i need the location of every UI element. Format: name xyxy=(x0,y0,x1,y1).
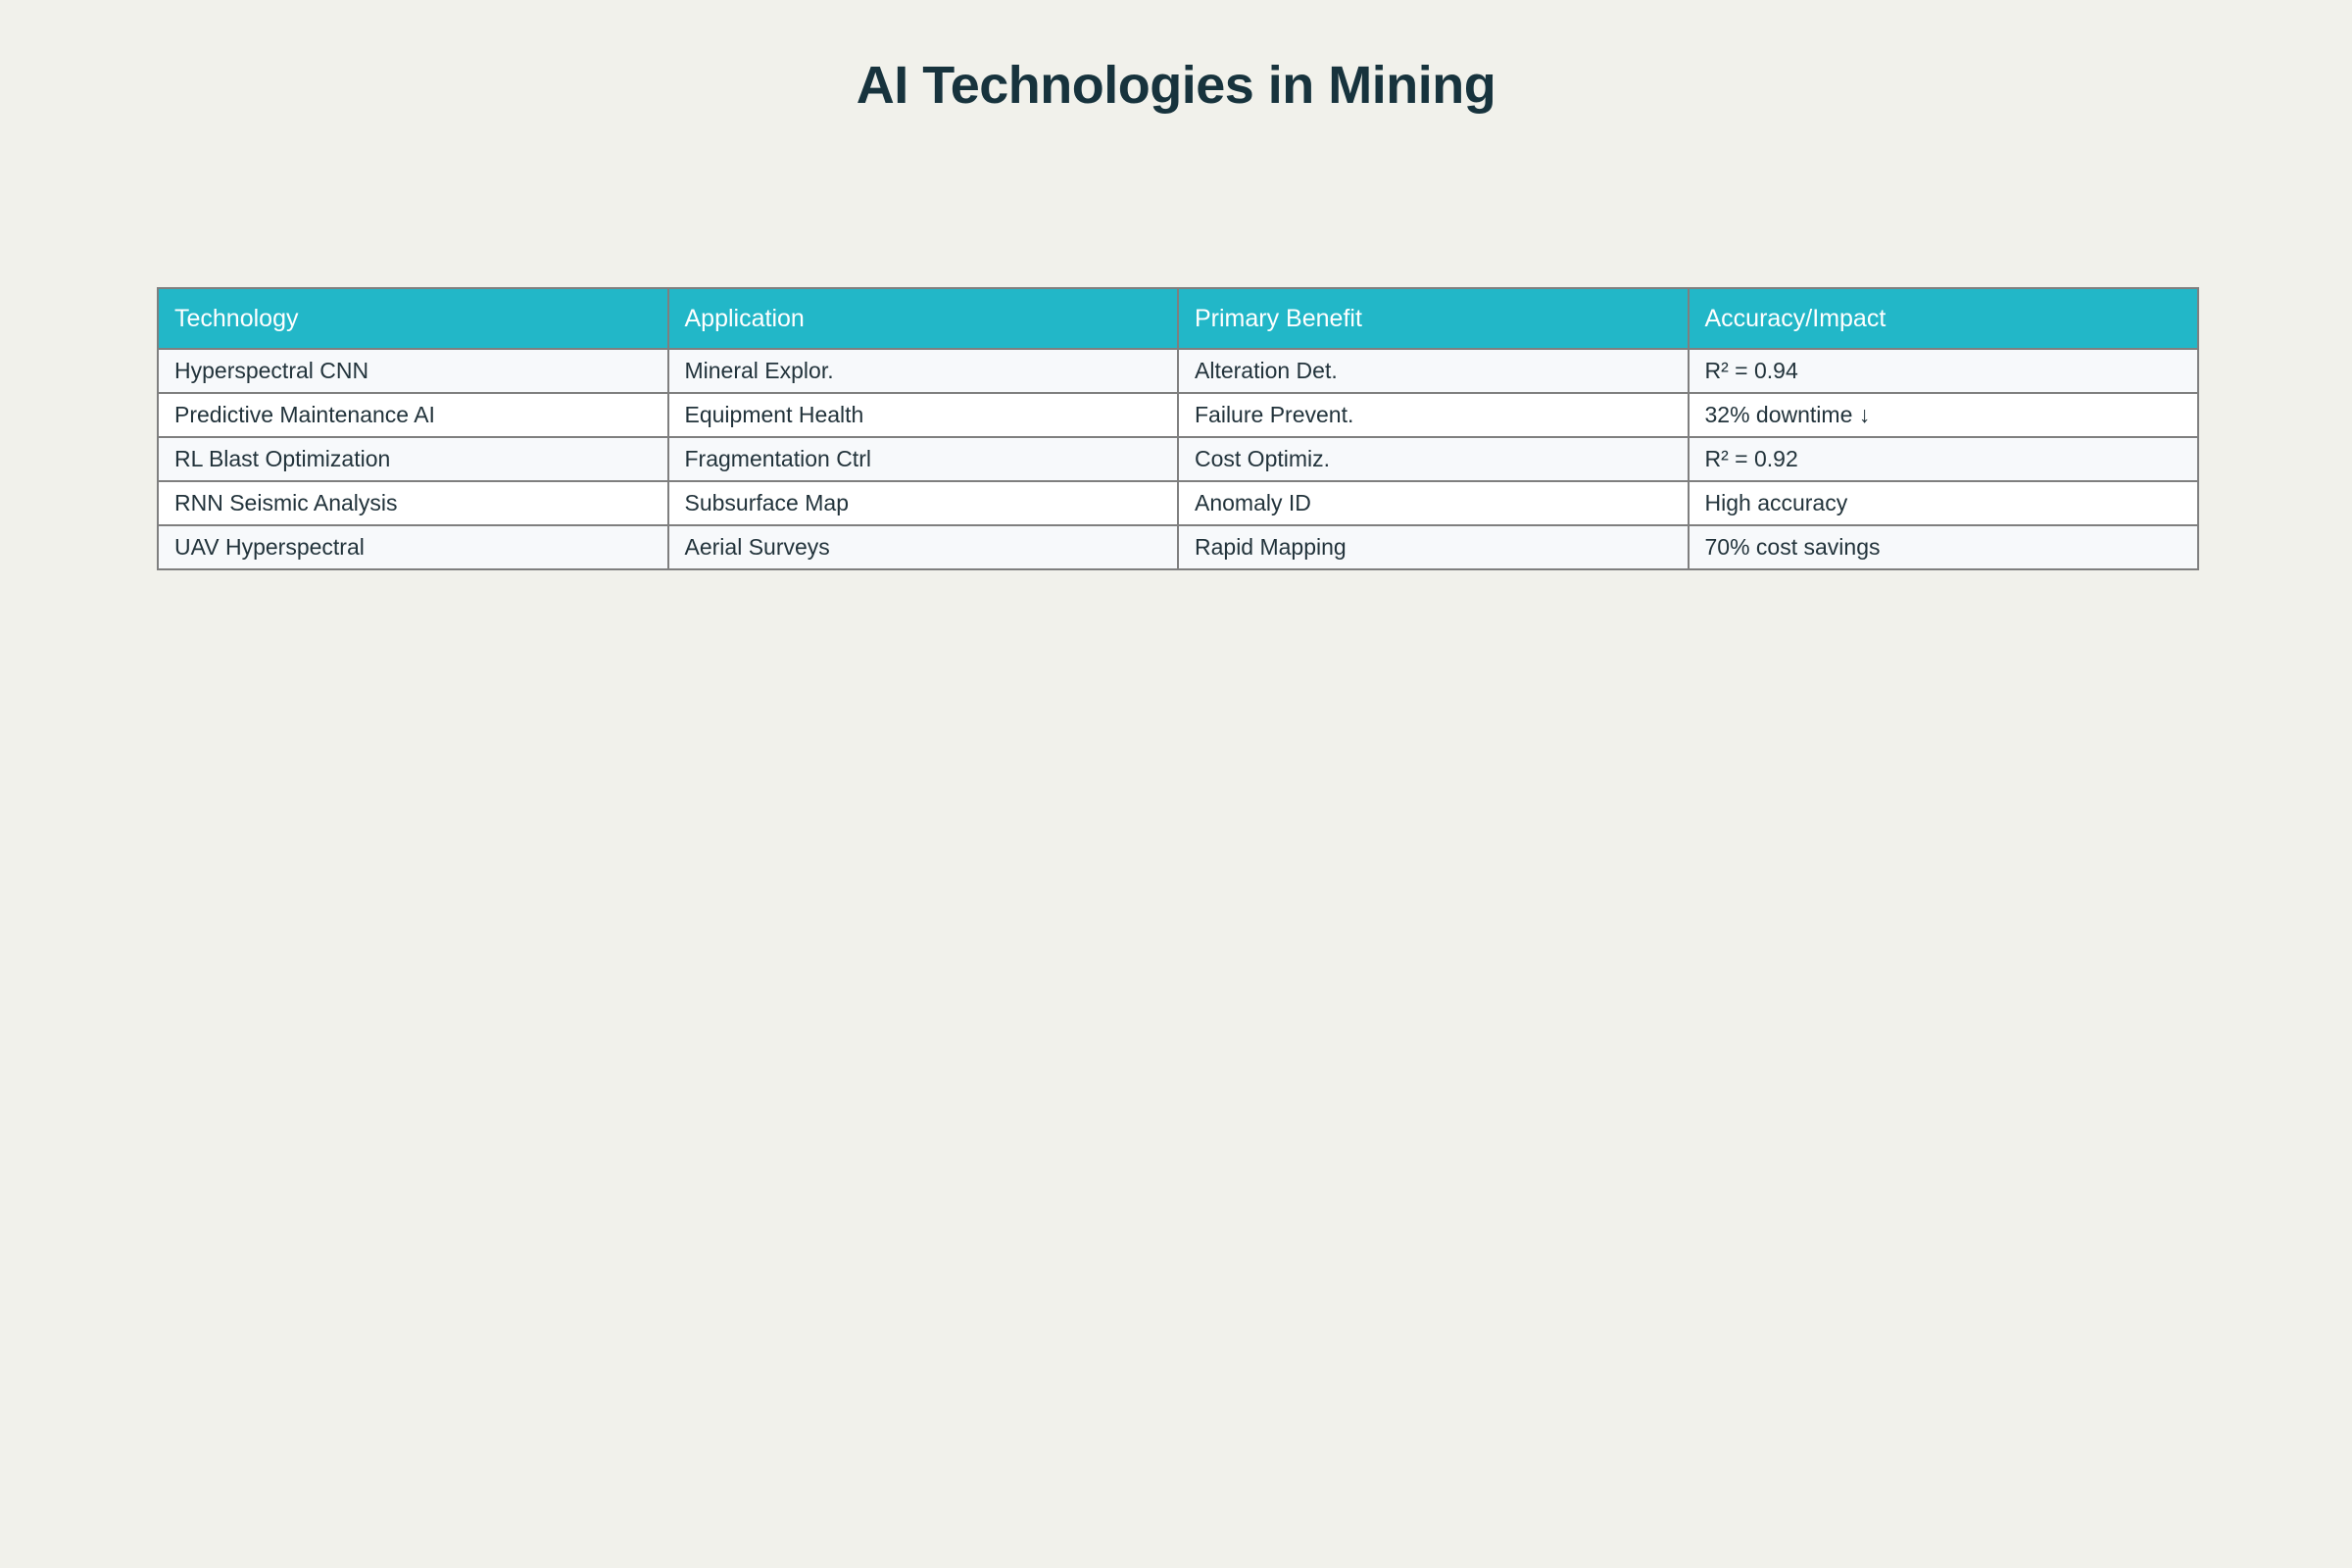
cell-accuracy-impact: High accuracy xyxy=(1689,481,2199,525)
table-row: RNN Seismic Analysis Subsurface Map Anom… xyxy=(158,481,2198,525)
table-header-row: Technology Application Primary Benefit A… xyxy=(158,288,2198,349)
cell-primary-benefit: Cost Optimiz. xyxy=(1178,437,1689,481)
page-root: AI Technologies in Mining Technology App… xyxy=(0,0,2352,1568)
cell-application: Equipment Health xyxy=(668,393,1179,437)
table-header: Technology Application Primary Benefit A… xyxy=(158,288,2198,349)
column-header-accuracy-impact[interactable]: Accuracy/Impact xyxy=(1689,288,2199,349)
cell-technology: Predictive Maintenance AI xyxy=(158,393,668,437)
cell-technology: UAV Hyperspectral xyxy=(158,525,668,569)
column-header-application[interactable]: Application xyxy=(668,288,1179,349)
ai-technologies-table: Technology Application Primary Benefit A… xyxy=(157,287,2199,570)
table-container: Technology Application Primary Benefit A… xyxy=(157,287,2197,570)
cell-application: Aerial Surveys xyxy=(668,525,1179,569)
table-row: Hyperspectral CNN Mineral Explor. Altera… xyxy=(158,349,2198,393)
table-row: RL Blast Optimization Fragmentation Ctrl… xyxy=(158,437,2198,481)
cell-technology: RNN Seismic Analysis xyxy=(158,481,668,525)
cell-accuracy-impact: R² = 0.92 xyxy=(1689,437,2199,481)
cell-application: Fragmentation Ctrl xyxy=(668,437,1179,481)
cell-technology: Hyperspectral CNN xyxy=(158,349,668,393)
table-row: UAV Hyperspectral Aerial Surveys Rapid M… xyxy=(158,525,2198,569)
column-header-technology[interactable]: Technology xyxy=(158,288,668,349)
cell-primary-benefit: Failure Prevent. xyxy=(1178,393,1689,437)
table-body: Hyperspectral CNN Mineral Explor. Altera… xyxy=(158,349,2198,569)
cell-primary-benefit: Alteration Det. xyxy=(1178,349,1689,393)
cell-technology: RL Blast Optimization xyxy=(158,437,668,481)
cell-primary-benefit: Rapid Mapping xyxy=(1178,525,1689,569)
column-header-primary-benefit[interactable]: Primary Benefit xyxy=(1178,288,1689,349)
cell-application: Mineral Explor. xyxy=(668,349,1179,393)
cell-accuracy-impact: R² = 0.94 xyxy=(1689,349,2199,393)
cell-accuracy-impact: 32% downtime ↓ xyxy=(1689,393,2199,437)
page-title: AI Technologies in Mining xyxy=(0,57,2352,115)
cell-primary-benefit: Anomaly ID xyxy=(1178,481,1689,525)
table-row: Predictive Maintenance AI Equipment Heal… xyxy=(158,393,2198,437)
cell-application: Subsurface Map xyxy=(668,481,1179,525)
cell-accuracy-impact: 70% cost savings xyxy=(1689,525,2199,569)
